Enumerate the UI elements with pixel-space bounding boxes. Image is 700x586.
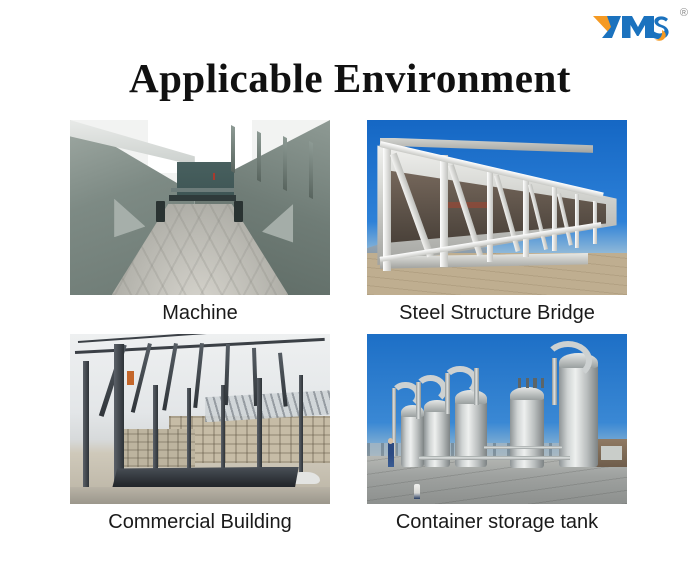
gallery-caption-machine: Machine — [70, 295, 330, 327]
brand-logo: ® — [592, 8, 688, 46]
gallery-caption-container-storage-tank: Container storage tank — [367, 504, 627, 536]
gallery-item-container-storage-tank[interactable]: Container storage tank — [367, 334, 627, 536]
yms-logo-icon — [592, 12, 670, 42]
page-title: Applicable Environment — [0, 56, 700, 101]
gallery-caption-commercial-building: Commercial Building — [70, 504, 330, 536]
container-storage-tank-photo — [367, 334, 627, 504]
machine-photo — [70, 120, 330, 295]
gallery-caption-steel-structure-bridge: Steel Structure Bridge — [367, 295, 627, 327]
applicable-environment-gallery: Machine Steel Structur — [70, 120, 630, 536]
gallery-item-commercial-building[interactable]: Commercial Building — [70, 334, 330, 536]
commercial-building-photo — [70, 334, 330, 504]
gallery-item-steel-structure-bridge[interactable]: Steel Structure Bridge — [367, 120, 627, 327]
gallery-item-machine[interactable]: Machine — [70, 120, 330, 327]
registered-trademark-symbol: ® — [680, 8, 688, 19]
steel-structure-bridge-photo — [367, 120, 627, 295]
